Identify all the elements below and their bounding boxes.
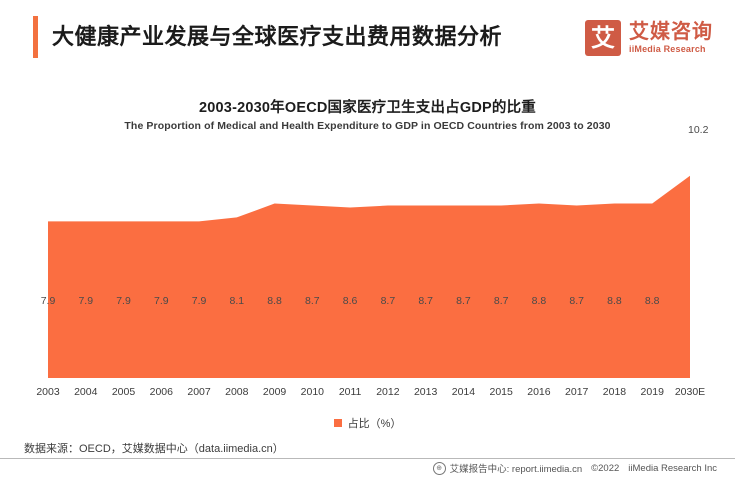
x-axis-tick: 2015	[489, 386, 512, 398]
x-axis-tick: 2013	[414, 386, 437, 398]
x-axis-tick: 2009	[263, 386, 286, 398]
x-axis-tick: 2017	[565, 386, 588, 398]
page-title: 大健康产业发展与全球医疗支出费用数据分析	[52, 18, 502, 56]
x-axis-tick: 2004	[74, 386, 97, 398]
x-axis-tick: 2008	[225, 386, 248, 398]
x-axis-tick: 2018	[603, 386, 626, 398]
footer-report-center: 艾媒报告中心: report.iimedia.cn	[450, 461, 583, 475]
legend-swatch-icon	[334, 419, 342, 427]
source-note: 数据来源：OECD，艾媒数据中心（data.iimedia.cn）	[24, 440, 284, 456]
header-accent-bar	[33, 16, 38, 58]
x-axis-ticks: 2003200420052006200720082009201020112012…	[0, 386, 735, 406]
area-chart-svg	[0, 150, 735, 390]
area-series-占比	[48, 176, 690, 378]
x-axis-tick: 2003	[36, 386, 59, 398]
x-axis-tick: 2011	[339, 386, 362, 398]
footer-bar: ⊕ 艾媒报告中心: report.iimedia.cn ©2022 iiMedi…	[433, 461, 717, 475]
legend-label: 占比（%）	[348, 415, 402, 431]
page-header: 大健康产业发展与全球医疗支出费用数据分析 艾 艾媒咨询 iiMedia Rese…	[0, 0, 735, 72]
footer-company: iiMedia Research Inc	[628, 463, 717, 474]
x-axis-tick: 2030E	[675, 386, 705, 398]
chart-legend: 占比（%）	[0, 415, 735, 431]
x-axis-tick: 2019	[641, 386, 664, 398]
logo-mark-icon: 艾	[585, 20, 621, 56]
x-axis-tick: 2010	[301, 386, 324, 398]
x-axis-tick: 2012	[376, 386, 399, 398]
x-axis-tick: 2014	[452, 386, 475, 398]
chart-subtitle: The Proportion of Medical and Health Exp…	[0, 120, 735, 132]
area-chart-plot	[0, 150, 735, 390]
footer-copyright: ©2022	[591, 463, 619, 474]
brand-logo: 艾 艾媒咨询 iiMedia Research	[585, 16, 713, 60]
chart-title: 2003-2030年OECD国家医疗卫生支出占GDP的比重	[0, 96, 735, 117]
x-axis-tick: 2007	[187, 386, 210, 398]
footer-divider	[0, 458, 735, 459]
logo-name-en: iiMedia Research	[629, 43, 713, 55]
x-axis-tick: 2005	[112, 386, 135, 398]
logo-name-cn: 艾媒咨询	[629, 21, 713, 43]
logo-text: 艾媒咨询 iiMedia Research	[629, 21, 713, 55]
x-axis-tick: 2006	[150, 386, 173, 398]
x-axis-tick: 2016	[527, 386, 550, 398]
globe-icon: ⊕	[433, 462, 446, 475]
